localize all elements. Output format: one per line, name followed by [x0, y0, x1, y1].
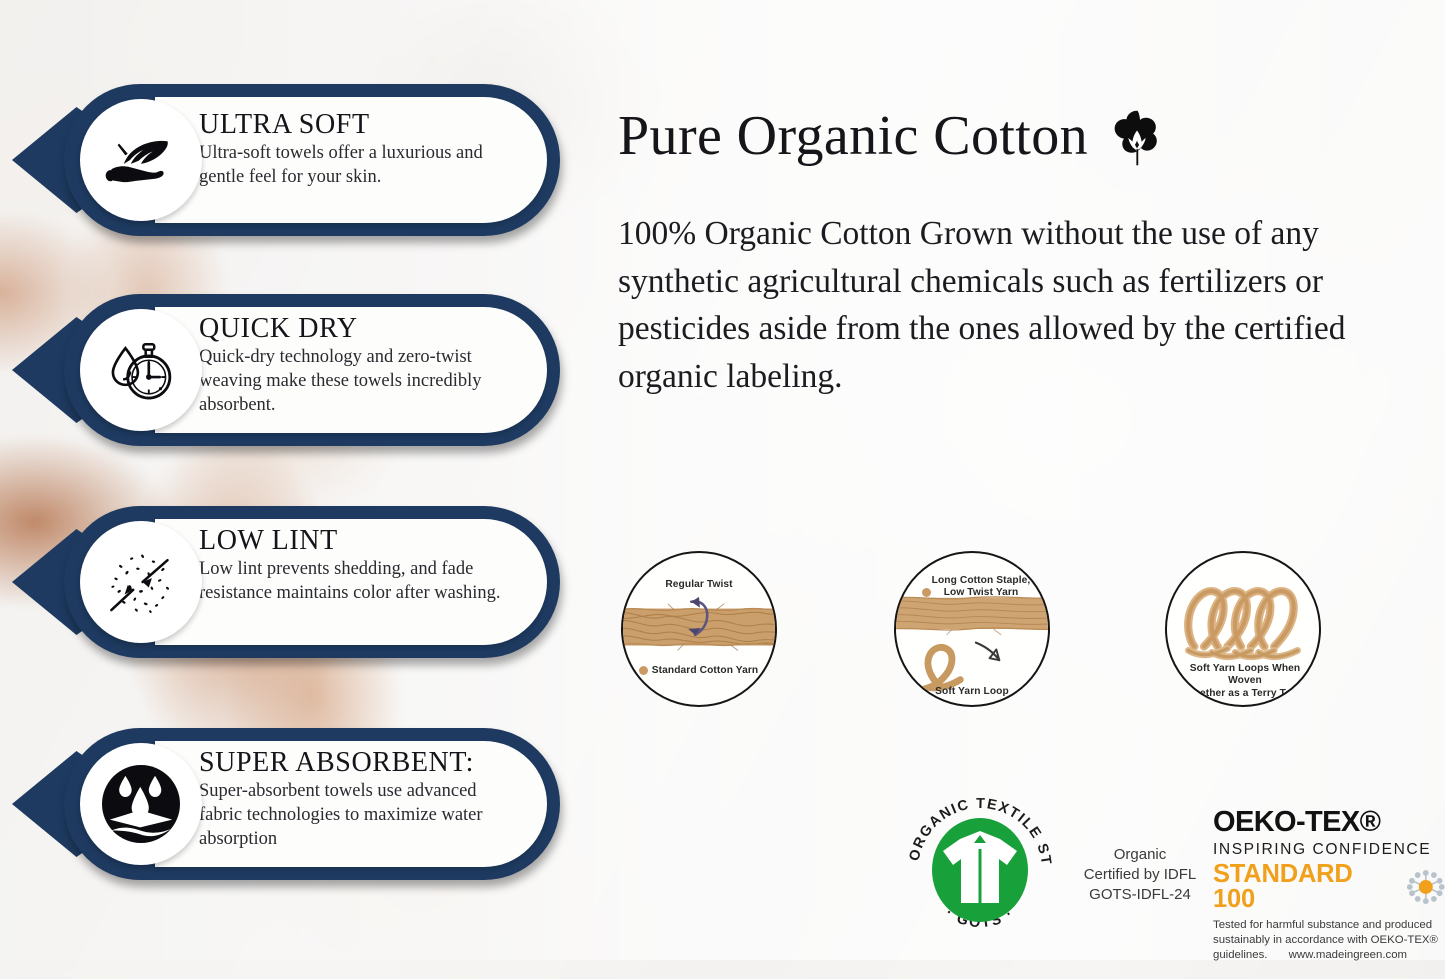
yarn-bottom-label: Soft Yarn Loop: [896, 686, 1048, 698]
badge-title: ULTRA SOFT: [199, 110, 513, 140]
stopwatch-droplet-icon: [80, 309, 202, 431]
regular-twist-illustration: [623, 553, 775, 705]
feature-badge-super-absorbent: SUPER ABSORBENT: Super-absorbent towels …: [12, 728, 560, 880]
oeko-tex-fine-print: Tested for harmful substance and produce…: [1213, 918, 1441, 964]
oeko-tex-name: OEKO-TEX®: [1213, 808, 1445, 837]
badge-title: QUICK DRY: [199, 314, 513, 344]
yarn-diagram-low-twist: Long Cotton Staple, Low Twist Yarn Soft …: [894, 551, 1050, 707]
yarn-top-label: Regular Twist: [623, 579, 775, 591]
hand-feather-icon: [80, 99, 202, 221]
idfl-line-1: Organic: [1074, 845, 1206, 865]
badge-title: SUPER ABSORBENT:: [199, 748, 513, 778]
yarn-bottom-label: Standard Cotton Yarn: [631, 665, 777, 677]
oeko-tex-standard: STANDARD 100: [1213, 862, 1399, 913]
cotton-boll-icon: [1106, 107, 1168, 169]
oeko-website: www.madeingreen.com: [1289, 949, 1407, 961]
yarn-diagram-regular-twist: Regular Twist Standard Cotton Yarn: [621, 551, 777, 707]
yarn-top-label: Long Cotton Staple, Low Twist Yarn: [910, 575, 1050, 600]
body-copy: 100% Organic Cotton Grown without the us…: [618, 210, 1418, 400]
page-title: Pure Organic Cotton: [618, 103, 1168, 169]
badge-text-panel: ULTRA SOFT Ultra-soft towels offer a lux…: [155, 97, 547, 223]
made-in-green-flower-icon: [1407, 868, 1445, 906]
oeko-tex-tagline: INSPIRING CONFIDENCE: [1213, 842, 1445, 858]
yarn-bullet-dot: [922, 588, 931, 597]
badge-description: Quick-dry technology and zero-twist weav…: [199, 345, 513, 417]
feature-badge-low-lint: LOW LINT Low lint prevents shedding, and…: [12, 506, 560, 658]
yarn-diagram-terry-loops: Soft Yarn Loops When Woven Together as a…: [1165, 551, 1321, 707]
badge-description: Super-absorbent towels use advanced fabr…: [199, 779, 513, 851]
badge-description: Ultra-soft towels offer a luxurious and …: [199, 141, 513, 189]
idfl-line-2: Certified by IDFL: [1074, 865, 1206, 885]
lint-particles-arrows-icon: [80, 521, 202, 643]
yarn-bullet-dot: [639, 666, 648, 675]
gots-certification-logo: GLOBAL ORGANIC TEXTILE STANDARD · GOTS ·: [897, 787, 1063, 953]
feature-badge-ultra-soft: ULTRA SOFT Ultra-soft towels offer a lux…: [12, 84, 560, 236]
badge-text-panel: QUICK DRY Quick-dry technology and zero-…: [155, 307, 547, 433]
oeko-tex-block: OEKO-TEX® INSPIRING CONFIDENCE STANDARD …: [1213, 808, 1445, 963]
badge-description: Low lint prevents shedding, and fade res…: [199, 557, 513, 605]
water-droplets-fabric-icon: [80, 743, 202, 865]
idfl-line-3: GOTS-IDFL-24: [1074, 885, 1206, 905]
headline-text: Pure Organic Cotton: [618, 104, 1088, 168]
badge-title: LOW LINT: [199, 526, 513, 556]
yarn-bottom-label: Soft Yarn Loops When Woven Together as a…: [1173, 663, 1317, 700]
feature-badge-quick-dry: QUICK DRY Quick-dry technology and zero-…: [12, 294, 560, 446]
badge-text-panel: LOW LINT Low lint prevents shedding, and…: [155, 519, 547, 645]
badge-text-panel: SUPER ABSORBENT: Super-absorbent towels …: [155, 741, 547, 867]
idfl-certification-text: Organic Certified by IDFL GOTS-IDFL-24: [1074, 845, 1206, 905]
